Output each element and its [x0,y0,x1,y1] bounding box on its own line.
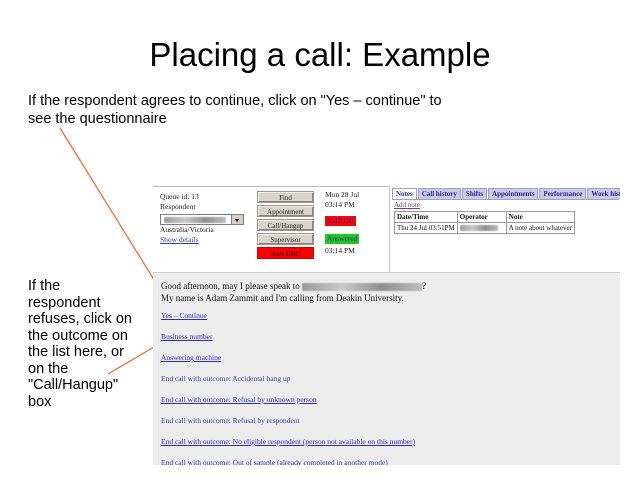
cell-datetime: Thu 24 Jul 03:51PM [395,223,458,234]
cell-operator [457,223,506,234]
appointment-button[interactable]: Appointment [257,205,314,217]
script-line-1-suffix: ? [422,281,426,291]
link-answering-machine[interactable]: Answering machine [161,353,415,363]
respondent-info: Queue id: 13 Respondent Australia/Victor… [160,192,250,245]
tab-shifts[interactable]: Shifts [462,188,487,199]
link-outcome-no-eligible-respondent[interactable]: End call with outcome: No eligible respo… [161,437,415,447]
script-line-2: My name is Adam Zammit and I'm calling f… [161,292,501,304]
redacted-respondent-name-script [302,283,422,291]
slide: Placing a call: Example If the responden… [0,0,640,480]
show-details-link[interactable]: Show details [160,235,250,245]
redacted-respondent-name [164,217,226,223]
annotation-left-text: If the respondent refuses, click on the … [28,278,136,410]
tab-call-history[interactable]: Call history [418,188,461,199]
timezone-label: Australia/Victoria [160,225,250,235]
tab-work-history[interactable]: Work history [587,188,620,199]
status-time-top: 03:14 PM [325,200,383,210]
call-script: Good afternoon, may I please speak to ? … [161,280,501,304]
voip-status-badge: VoIP Off [325,216,356,226]
embedded-app-screenshot: Queue id: 13 Respondent Australia/Victor… [153,186,620,465]
status-time-bottom: 03:14 PM [325,246,383,256]
tab-underline [392,199,619,200]
link-business-number[interactable]: Business number [161,332,415,342]
status-date: Mon 28 Jul [325,190,383,200]
tab-bar: Notes Call history Shifts Appointments P… [392,188,620,199]
add-note-link[interactable]: Add note [394,201,420,209]
app-header: Queue id: 13 Respondent Australia/Victor… [153,186,620,272]
respondent-select[interactable] [160,214,244,225]
respondent-label: Respondent [160,202,250,212]
link-outcome-refusal-unknown-person[interactable]: End call with outcome: Refusal by unknow… [161,395,415,405]
tab-appointments[interactable]: Appointments [488,188,538,199]
link-outcome-refusal-by-respondent[interactable]: End call with outcome: Refusal by respon… [161,416,415,426]
tab-notes[interactable]: Notes [392,188,417,199]
link-outcome-accidental-hang-up[interactable]: End call with outcome: Accidental hang u… [161,374,415,384]
chevron-down-icon[interactable] [231,215,243,224]
script-line-1: Good afternoon, may I please speak to ? [161,280,501,292]
find-button[interactable]: Find [257,191,314,203]
call-hangup-button[interactable]: Call/Hangup [257,219,314,231]
link-yes-continue[interactable]: Yes – Continue [161,311,415,321]
link-outcome-out-of-sample[interactable]: End call with outcome: Out of sample (al… [161,458,415,465]
column-header-note: Note [506,212,574,223]
answered-status-badge: Answered [325,234,359,244]
table-header-row: Date/Time Operator Note [395,212,575,223]
outcome-link-list: Yes – Continue Business number Answering… [161,311,415,465]
notes-panel: Notes Call history Shifts Appointments P… [389,186,620,272]
redacted-operator-name [460,225,498,231]
action-button-stack: Find Appointment Call/Hangup Supervisor … [257,191,317,261]
queue-id-label: Queue id: 13 [160,192,250,202]
column-header-operator: Operator [457,212,506,223]
script-line-1-text: Good afternoon, may I please speak to [161,281,300,291]
tab-performance[interactable]: Performance [539,188,586,199]
app-body: Good afternoon, may I please speak to ? … [153,272,620,465]
column-header-datetime: Date/Time [395,212,458,223]
arrow-to-script [60,128,166,299]
table-row: Thu 24 Jul 03:51PM A note about whatever [395,223,575,234]
annotation-top-text: If the respondent agrees to continue, cl… [28,92,458,128]
call-status-column: Mon 28 Jul 03:14 PM VoIP Off Answered 03… [325,190,383,256]
notes-table: Date/Time Operator Note Thu 24 Jul 03:51… [394,211,575,234]
page-title: Placing a call: Example [0,36,640,74]
supervisor-button[interactable]: Supervisor [257,233,314,245]
cell-note: A note about whatever [506,223,574,234]
start-dbc-button[interactable]: Start DBC [257,247,314,259]
